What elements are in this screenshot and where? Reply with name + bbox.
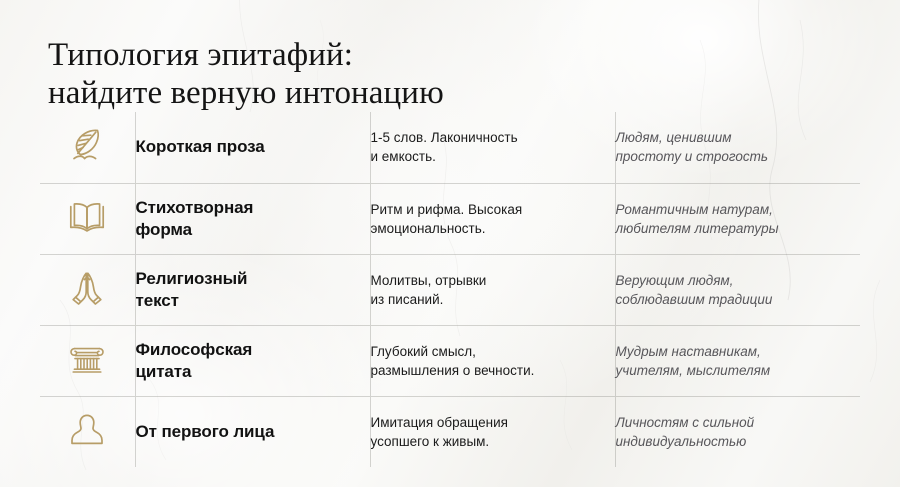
row-description-line-1: Имитация обращения bbox=[371, 413, 615, 432]
row-audience-line-2: простоту и строгость bbox=[616, 147, 861, 166]
row-description-cell: Глубокий смысл, размышления о вечности. bbox=[370, 325, 615, 396]
open-book-icon bbox=[64, 193, 110, 239]
row-audience-line-2: учителям, мыслителям bbox=[616, 361, 861, 380]
row-audience-line-1: Верующим людям, bbox=[616, 271, 861, 290]
title-line-1: Типология эпитафий: bbox=[48, 36, 688, 74]
row-audience-line-1: Личностям с сильной bbox=[616, 413, 861, 432]
row-name-cell: Короткая проза bbox=[135, 112, 370, 183]
row-description-line-1: 1-5 слов. Лаконичность bbox=[371, 128, 615, 147]
row-icon-cell bbox=[40, 396, 135, 467]
row-description-line-2: усопшего к живым. bbox=[371, 432, 615, 451]
row-icon-cell bbox=[40, 325, 135, 396]
feather-quill-icon bbox=[64, 122, 110, 168]
row-audience-cell: Личностям с сильной индивидуальностью bbox=[615, 396, 860, 467]
row-description-line-2: размышления о вечности. bbox=[371, 361, 615, 380]
row-audience-line-1: Романтичным натурам, bbox=[616, 200, 861, 219]
row-audience-line-1: Мудрым наставникам, bbox=[616, 342, 861, 361]
row-description-line-2: эмоциональность. bbox=[371, 219, 615, 238]
row-name-line-2: форма bbox=[136, 219, 370, 241]
row-name-cell: Религиозный текст bbox=[135, 254, 370, 325]
row-audience-cell: Мудрым наставникам, учителям, мыслителям bbox=[615, 325, 860, 396]
row-audience-line-2: любителям литературы bbox=[616, 219, 861, 238]
person-silhouette-icon bbox=[64, 406, 110, 452]
row-audience-line-2: соблюдавшим традиции bbox=[616, 290, 861, 309]
table-row: Религиозный текст Молитвы, отрывки из пи… bbox=[40, 254, 860, 325]
row-description-line-2: из писаний. bbox=[371, 290, 615, 309]
page-title: Типология эпитафий: найдите верную интон… bbox=[48, 36, 688, 112]
row-name-line-1: Философская bbox=[136, 339, 370, 361]
praying-hands-icon bbox=[64, 264, 110, 310]
table-row: От первого лица Имитация обращения усопш… bbox=[40, 396, 860, 467]
row-name-line-2: цитата bbox=[136, 361, 370, 383]
typology-table: Короткая проза 1-5 слов. Лаконичность и … bbox=[40, 112, 860, 467]
row-description-cell: Ритм и рифма. Высокая эмоциональность. bbox=[370, 183, 615, 254]
row-icon-cell bbox=[40, 112, 135, 183]
row-name-text: Короткая проза bbox=[136, 136, 370, 158]
row-description-cell: Имитация обращения усопшего к живым. bbox=[370, 396, 615, 467]
row-name-line-1: Стихотворная bbox=[136, 197, 370, 219]
row-icon-cell bbox=[40, 183, 135, 254]
row-audience-line-1: Людям, ценившим bbox=[616, 128, 861, 147]
row-description-cell: Молитвы, отрывки из писаний. bbox=[370, 254, 615, 325]
row-audience-cell: Людям, ценившим простоту и строгость bbox=[615, 112, 860, 183]
row-name-line-1: Религиозный bbox=[136, 268, 370, 290]
row-description-line-1: Глубокий смысл, bbox=[371, 342, 615, 361]
row-name-text: От первого лица bbox=[136, 421, 370, 443]
row-audience-cell: Верующим людям, соблюдавшим традиции bbox=[615, 254, 860, 325]
row-name-cell: От первого лица bbox=[135, 396, 370, 467]
ionic-column-icon bbox=[64, 335, 110, 381]
row-icon-cell bbox=[40, 254, 135, 325]
row-description-line-1: Молитвы, отрывки bbox=[371, 271, 615, 290]
row-description-line-1: Ритм и рифма. Высокая bbox=[371, 200, 615, 219]
title-line-2: найдите верную интонацию bbox=[48, 74, 688, 112]
table-row: Стихотворная форма Ритм и рифма. Высокая… bbox=[40, 183, 860, 254]
row-description-line-2: и емкость. bbox=[371, 147, 615, 166]
table-row: Философская цитата Глубокий смысл, размы… bbox=[40, 325, 860, 396]
row-audience-line-2: индивидуальностью bbox=[616, 432, 861, 451]
row-name-line-2: текст bbox=[136, 290, 370, 312]
epitaph-typology-infographic: Типология эпитафий: найдите верную интон… bbox=[0, 0, 900, 487]
row-description-cell: 1-5 слов. Лаконичность и емкость. bbox=[370, 112, 615, 183]
row-audience-cell: Романтичным натурам, любителям литератур… bbox=[615, 183, 860, 254]
table-row: Короткая проза 1-5 слов. Лаконичность и … bbox=[40, 112, 860, 183]
row-name-cell: Философская цитата bbox=[135, 325, 370, 396]
row-name-cell: Стихотворная форма bbox=[135, 183, 370, 254]
